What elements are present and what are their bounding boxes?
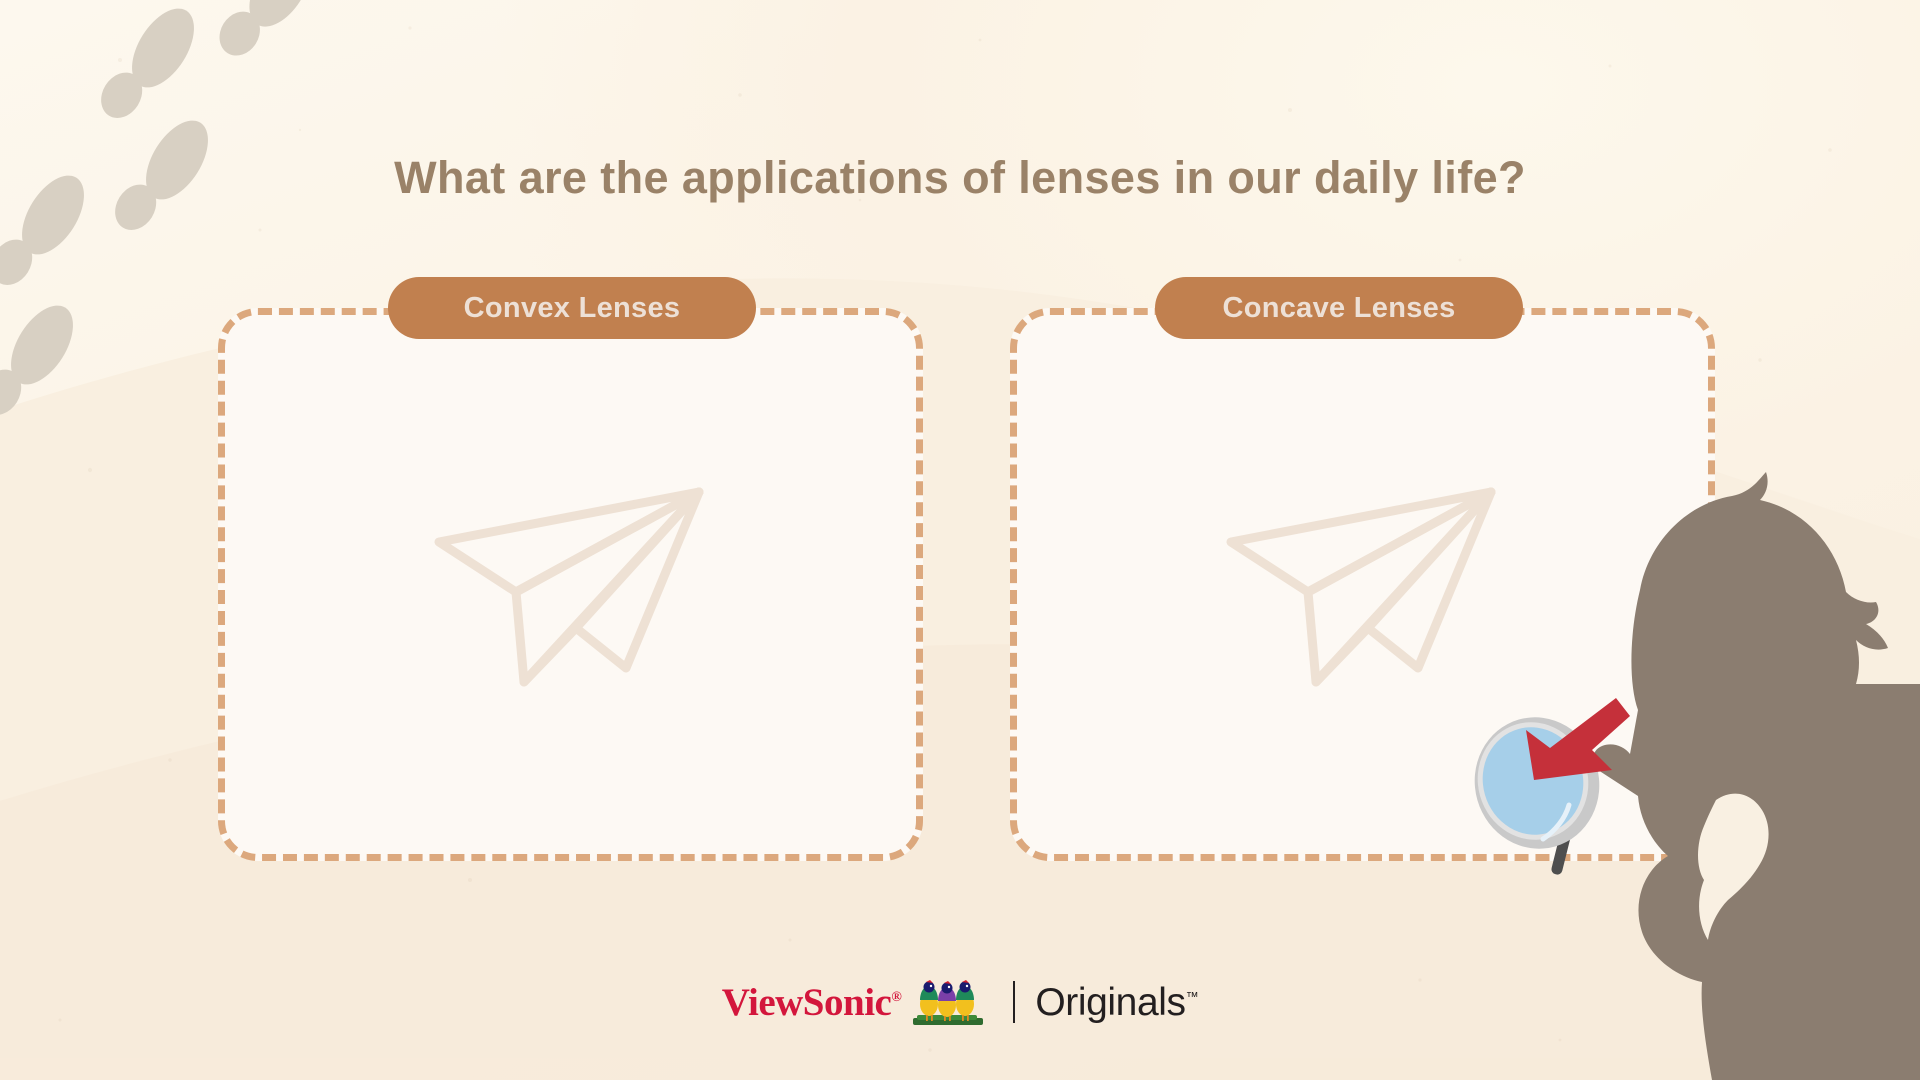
viewsonic-wordmark-text: ViewSonic	[722, 981, 892, 1024]
category-pill-convex[interactable]: Convex Lenses	[388, 277, 756, 339]
originals-wordmark: Originals™	[1035, 983, 1198, 1022]
paper-plane-icon	[1213, 470, 1513, 700]
trademark-icon: ™	[1186, 989, 1199, 1004]
viewsonic-wordmark: ViewSonic®	[722, 983, 902, 1022]
vertical-divider-icon	[1013, 981, 1015, 1023]
registered-mark-icon: ®	[891, 990, 901, 1005]
red-arrow-icon	[1520, 694, 1630, 784]
gouldian-finches-icon	[911, 978, 985, 1026]
dropzone-convex-lenses[interactable]	[218, 308, 923, 861]
originals-wordmark-text: Originals	[1035, 981, 1185, 1024]
footer-branding: ViewSonic®	[0, 978, 1920, 1026]
page-title: What are the applications of lenses in o…	[0, 152, 1920, 204]
slide-canvas: What are the applications of lenses in o…	[0, 0, 1920, 1080]
paper-plane-icon	[421, 470, 721, 700]
category-pill-concave[interactable]: Concave Lenses	[1155, 277, 1523, 339]
